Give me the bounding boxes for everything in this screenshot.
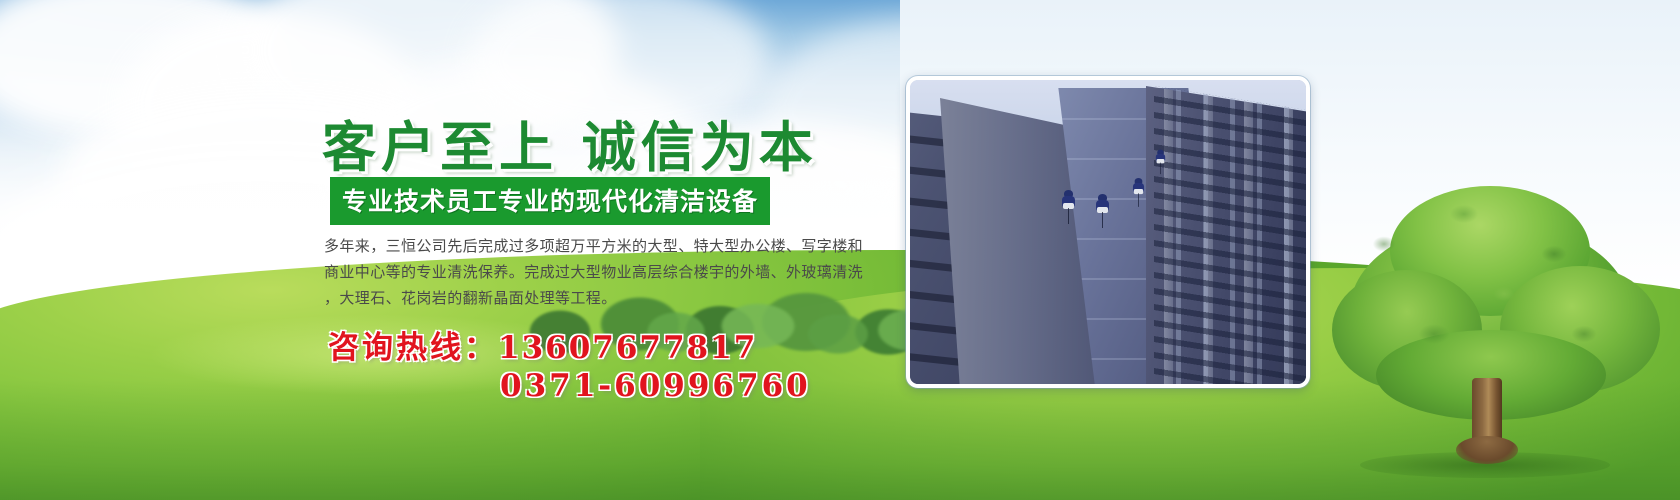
rope-access-worker	[1133, 178, 1144, 200]
promo-banner: 客户至上 诚信为本 专业技术员工专业的现代化清洁设备 多年来，三恒公司先后完成过…	[0, 0, 1680, 500]
tree-trunk	[1472, 378, 1502, 460]
description-line: 多年来，三恒公司先后完成过多项超万平方米的大型、特大型办公楼、写字楼和	[324, 233, 884, 259]
hotline-number[interactable]: 13607677817	[498, 330, 757, 366]
banner-headline: 客户至上 诚信为本	[322, 103, 818, 182]
building-photo-frame	[906, 76, 1310, 388]
rope-access-worker	[1156, 150, 1165, 169]
tree-illustration	[1330, 180, 1650, 470]
building-window-grid	[1154, 86, 1306, 384]
secondary-phone-number[interactable]: 0371-60996760	[500, 368, 811, 404]
rope-access-worker	[1062, 190, 1075, 216]
banner-description: 多年来，三恒公司先后完成过多项超万平方米的大型、特大型办公楼、写字楼和 商业中心…	[324, 233, 884, 311]
building-photo	[910, 80, 1306, 384]
hotline-label: 咨询热线：	[328, 330, 498, 366]
rope-access-worker	[1096, 194, 1109, 220]
banner-subtitle-bar: 专业技术员工专业的现代化清洁设备	[330, 177, 770, 225]
hotline-row: 咨询热线：13607677817	[328, 322, 757, 367]
description-line: 商业中心等的专业清洗保养。完成过大型物业高层综合楼宇的外墙、外玻璃清洗	[324, 259, 884, 285]
description-line: ，大理石、花岗岩的翻新晶面处理等工程。	[324, 285, 884, 311]
